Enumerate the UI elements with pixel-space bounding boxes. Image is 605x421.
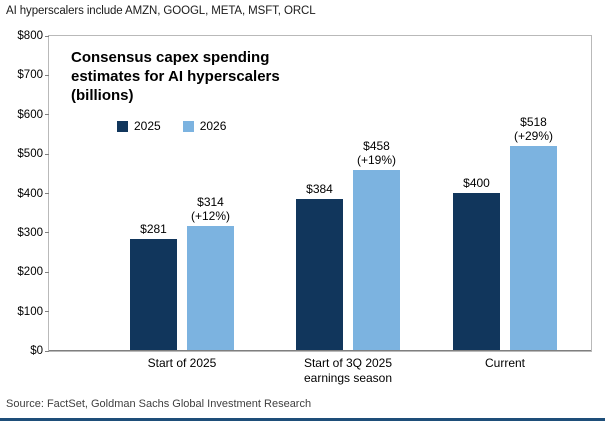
y-axis-tick-label: $400 [0,188,43,200]
y-axis-tick-mark [45,311,49,312]
y-axis-tick-mark [45,272,49,273]
chart-legend: 2025 2026 [117,119,226,133]
chart-title-line-3: (billions) [71,86,361,105]
legend-item-2026: 2026 [183,119,227,133]
bar-2025-2 [296,199,343,350]
y-axis-tick-label: $500 [0,148,43,160]
bar-value: $384 [306,182,333,196]
x-axis-line [49,350,591,351]
bar-2025-3 [453,193,500,351]
y-axis-tick-label: $700 [0,69,43,81]
y-axis-tick-label: $200 [0,266,43,278]
bar-value: $458 [357,139,396,153]
x-axis-category-label: Start of 2025 [148,356,217,371]
y-axis-tick-mark [45,351,49,352]
chart-title-line-1: Consensus capex spending [71,48,361,67]
chart-plot-frame: Consensus capex spending estimates for A… [48,35,592,352]
bar-value-label: $518(+29%) [514,115,553,143]
x-axis-labels: Start of 2025Start of 3Q 2025earnings se… [48,356,592,390]
bar-value: $314 [191,195,230,209]
chart-plot-area: Consensus capex spending estimates for A… [49,36,591,351]
bar-delta: (+19%) [357,153,396,167]
bar-value-label: $400 [463,176,490,190]
y-axis-tick-mark [45,36,49,37]
bar-value: $518 [514,115,553,129]
bar-2026-3 [510,146,557,350]
chart-source: Source: FactSet, Goldman Sachs Global In… [6,398,311,410]
chart-title-line-2: estimates for AI hyperscalers [71,67,361,86]
x-axis-category-label: Start of 3Q 2025earnings season [304,356,392,386]
y-axis-tick-mark [45,154,49,155]
chart-title: Consensus capex spending estimates for A… [71,48,361,105]
chart-page: AI hyperscalers include AMZN, GOOGL, MET… [0,0,605,421]
legend-swatch-2026 [183,121,194,132]
y-axis-tick-label: $600 [0,109,43,121]
bar-delta: (+29%) [514,129,553,143]
y-axis-tick-label: $100 [0,306,43,318]
bar-value-label: $281 [140,222,167,236]
legend-label-2025: 2025 [134,119,161,133]
legend-swatch-2025 [117,121,128,132]
bar-value: $281 [140,222,167,236]
bar-2025-1 [130,239,177,350]
x-axis-category-line: Start of 2025 [148,356,217,371]
y-axis-tick-label: $800 [0,30,43,42]
bar-2026-1 [187,226,234,350]
bar-value-label: $384 [306,182,333,196]
legend-item-2025: 2025 [117,119,161,133]
y-axis-tick-mark [45,193,49,194]
x-axis-category-line: Start of 3Q 2025 [304,356,392,371]
bar-delta: (+12%) [191,209,230,223]
y-axis-tick-mark [45,75,49,76]
bar-2026-2 [353,170,400,350]
bar-value: $400 [463,176,490,190]
x-axis-category-line: Current [485,356,525,371]
chart-note: AI hyperscalers include AMZN, GOOGL, MET… [6,5,316,17]
x-axis-category-label: Current [485,356,525,371]
legend-label-2026: 2026 [200,119,227,133]
bar-value-label: $458(+19%) [357,139,396,167]
y-axis-tick-mark [45,232,49,233]
y-axis-tick-mark [45,114,49,115]
y-axis-tick-label: $0 [0,345,43,357]
bar-value-label: $314(+12%) [191,195,230,223]
y-axis-tick-label: $300 [0,227,43,239]
x-axis-category-line: earnings season [304,371,392,386]
